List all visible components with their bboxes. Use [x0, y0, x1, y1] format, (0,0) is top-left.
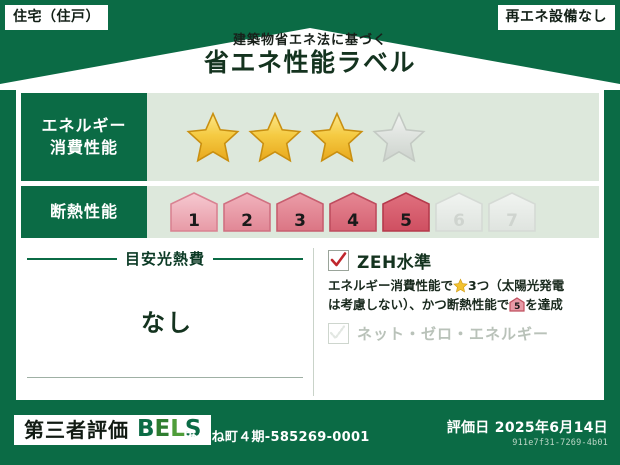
rule-right — [213, 258, 303, 260]
net-zero-energy-row: ネット・ゼロ・エネルギー — [328, 323, 593, 344]
insulation-level-filled: 2 — [222, 191, 272, 233]
star-filled — [247, 110, 303, 164]
net-zero-checkbox — [328, 323, 349, 344]
zeh-panel: ZEH水準 エネルギー消費性能で3つ（太陽光発電は考慮しない）、かつ断熱性能で5… — [322, 244, 599, 400]
bels-letter-l: L — [170, 416, 185, 442]
insulation-level-number: 7 — [487, 213, 537, 230]
insulation-level-number: 1 — [169, 213, 219, 230]
energy-label-line2: 消費性能 — [50, 138, 118, 157]
insulation-level-number: 3 — [275, 213, 325, 230]
cost-bottom-divider — [27, 377, 303, 378]
label-card: エネルギー 消費性能 断熱性能 1234567 目安光熱費 — [16, 88, 604, 400]
bels-energy-label: 住宅（住戸） 再エネ設備なし 建築物省エネ法に基づく 省エネ性能ラベル エネルギ… — [0, 0, 620, 465]
page-title: 省エネ性能ラベル — [0, 49, 620, 78]
energy-performance-value — [147, 93, 599, 181]
zeh-title: ZEH水準 — [357, 248, 432, 273]
document-hash: 911e7f31-7269-4b01 — [512, 438, 608, 448]
evaluation-date: 評価日 2025年6月14日 — [447, 417, 608, 437]
inline-house-badge-number: 5 — [509, 303, 525, 312]
label-footer: 第三者評価 BELS あかね町４期-585269-0001 評価日 2025年6… — [0, 405, 620, 465]
zeh-desc-part3: を達成 — [525, 297, 563, 312]
insulation-level-number: 5 — [381, 213, 431, 230]
star-rating — [185, 110, 427, 164]
energy-cost-value: なし — [21, 303, 313, 338]
zeh-description: エネルギー消費性能で3つ（太陽光発電は考慮しない）、かつ断熱性能で5を達成 — [328, 277, 593, 315]
evaluation-date-label: 評価日 — [447, 420, 490, 436]
energy-performance-row: エネルギー 消費性能 — [21, 93, 599, 181]
zeh-header: ZEH水準 — [328, 248, 593, 273]
insulation-level-number: 2 — [222, 213, 272, 230]
bels-letter-b: B — [137, 416, 155, 442]
insulation-level-filled: 3 — [275, 191, 325, 233]
zeh-desc-part1: エネルギー消費性能で — [328, 278, 453, 293]
energy-cost-header: 目安光熱費 — [21, 244, 313, 269]
panel-divider — [313, 248, 314, 396]
insulation-performance-label: 断熱性能 — [21, 186, 147, 238]
inline-house-badge-icon: 5 — [509, 297, 525, 312]
zeh-desc-part2: は考慮しない）、かつ断熱性能で — [328, 297, 509, 312]
energy-performance-label: エネルギー 消費性能 — [21, 93, 147, 181]
insulation-level-scale: 1234567 — [169, 191, 537, 233]
energy-label-line1: エネルギー — [41, 116, 126, 135]
star-filled — [309, 110, 365, 164]
insulation-level-empty: 7 — [487, 191, 537, 233]
bels-letter-e: E — [155, 416, 171, 442]
energy-cost-title: 目安光熱費 — [125, 248, 205, 269]
inline-star-icon — [453, 278, 468, 293]
building-type-tag: 住宅（住戸） — [4, 4, 109, 31]
renewable-equipment-tag: 再エネ設備なし — [497, 4, 617, 31]
label-title-block: 建築物省エネ法に基づく 省エネ性能ラベル — [0, 34, 620, 78]
insulation-performance-row: 断熱性能 1234567 — [21, 186, 599, 238]
insulation-performance-value: 1234567 — [147, 186, 599, 238]
lower-section: 目安光熱費 なし ZEH水準 エネルギー消費性能で3つ（太 — [21, 244, 599, 400]
star-filled — [185, 110, 241, 164]
insulation-level-filled: 1 — [169, 191, 219, 233]
insulation-level-filled: 5 — [381, 191, 431, 233]
evaluation-date-value: 2025年6月14日 — [495, 420, 608, 436]
property-identifier: あかね町４期-585269-0001 — [185, 426, 370, 445]
insulation-level-filled: 4 — [328, 191, 378, 233]
insulation-level-number: 4 — [328, 213, 378, 230]
third-party-evaluation-text: 第三者評価 — [24, 420, 129, 440]
star-empty — [371, 110, 427, 164]
zeh-desc-star-count: 3つ（太陽光発電 — [468, 278, 564, 293]
insulation-level-number: 6 — [434, 213, 484, 230]
rule-left — [27, 258, 117, 260]
bels-certification-mark: 第三者評価 BELS — [14, 415, 211, 445]
energy-cost-panel: 目安光熱費 なし — [21, 244, 313, 400]
zeh-checkbox — [328, 250, 349, 271]
label-subtitle: 建築物省エネ法に基づく — [0, 34, 620, 48]
insulation-level-empty: 6 — [434, 191, 484, 233]
net-zero-energy-label: ネット・ゼロ・エネルギー — [357, 323, 549, 344]
